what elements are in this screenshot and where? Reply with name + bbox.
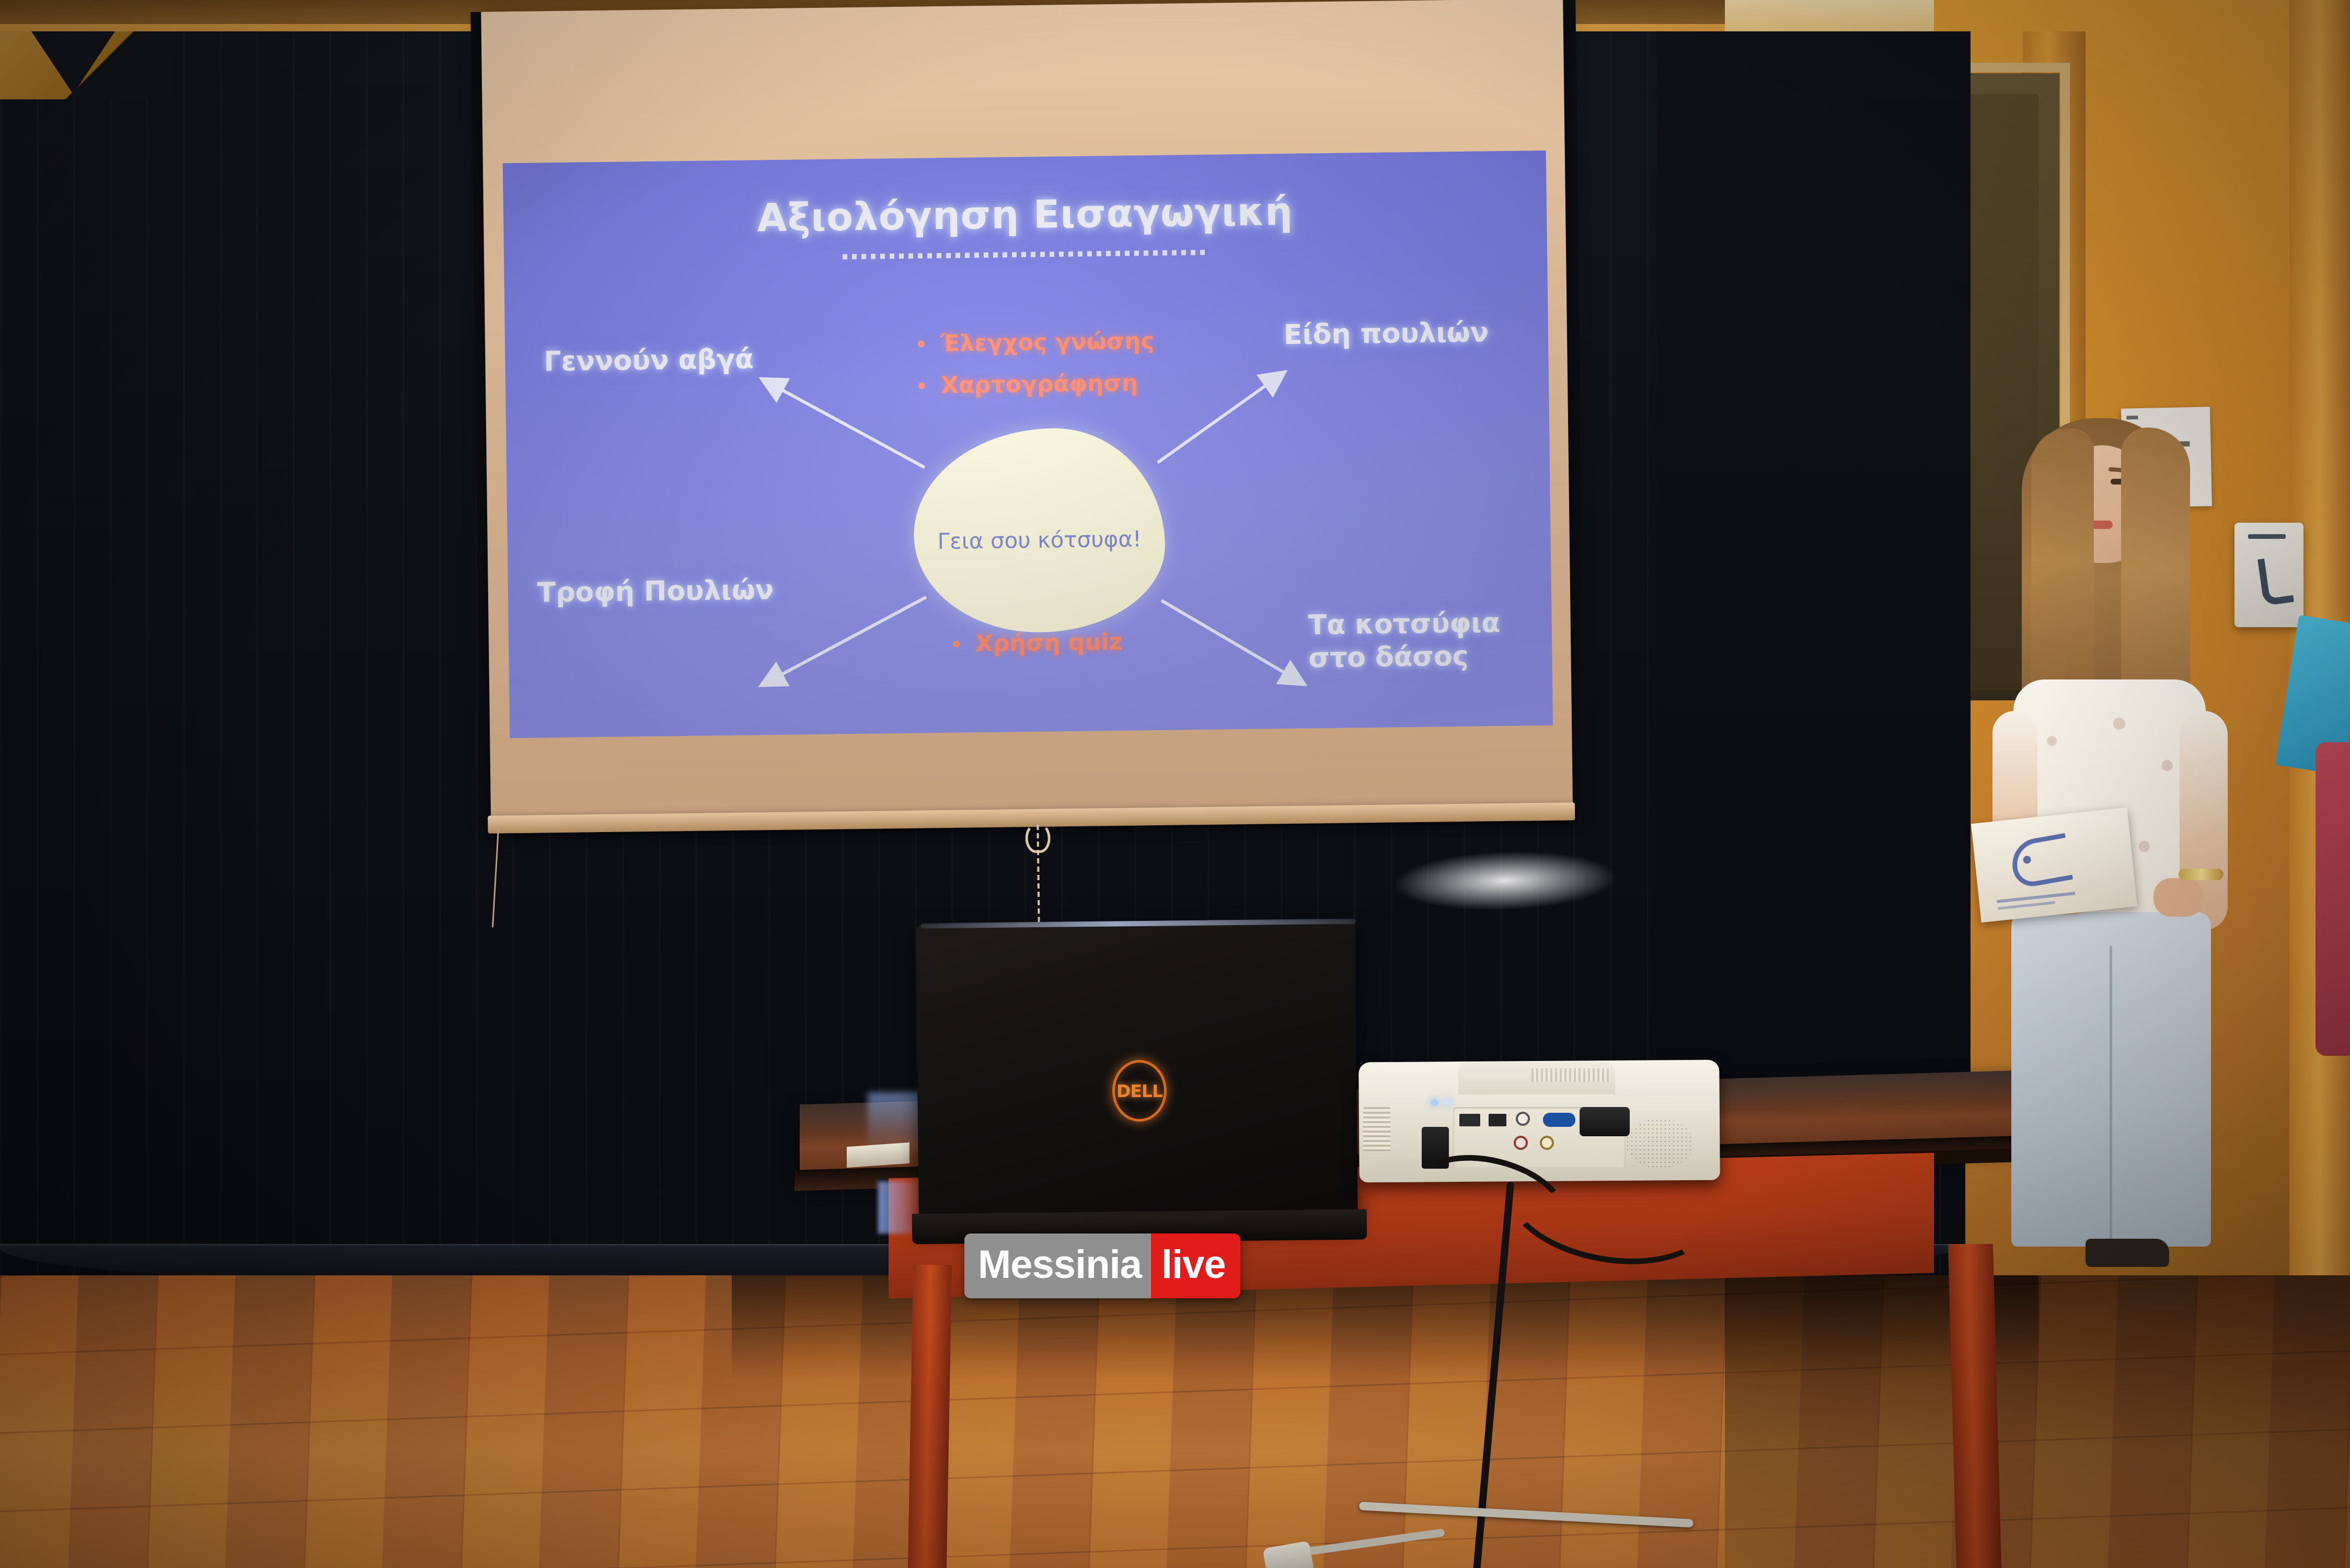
projector-status-led: [1444, 1099, 1451, 1106]
projector-vga-plug[interactable]: [1580, 1107, 1630, 1136]
bullet-label: Χρήση quiz: [975, 629, 1123, 657]
presenter-hand-right: [2153, 878, 2204, 917]
watermark-logo: Messinia live: [964, 1233, 1240, 1298]
slide-node-food: Τροφή Πουλιών: [537, 574, 774, 610]
folder-text-line-2: [1998, 901, 2055, 909]
dispenser-hand-icon: [2257, 555, 2294, 606]
projection-screen: Αξιολόγηση Εισαγωγική Γεννούν αβγά Τροφή…: [455, 0, 1605, 854]
presenter: [1981, 418, 2242, 1307]
slide-bullet-quiz-use: Χρήση quiz: [953, 629, 1123, 658]
dell-logo-icon: DELL: [1112, 1060, 1167, 1122]
projector-rca-audio-right-port[interactable]: [1540, 1136, 1554, 1150]
presenter-folder: [1971, 808, 2137, 923]
slide-center-blob-text: Γεια σου κότσυφα!: [937, 526, 1142, 554]
bullet-dot-icon: [918, 382, 925, 389]
bullet-dot-icon: [953, 641, 960, 648]
projector-vga-port[interactable]: [1543, 1113, 1575, 1127]
presenter-trouser-seam: [2110, 946, 2112, 1244]
slide-node-kinds: Είδη πουλιών: [1284, 316, 1489, 352]
projected-slide: Αξιολόγηση Εισαγωγική Γεννούν αβγά Τροφή…: [503, 151, 1553, 738]
presenter-shoe: [2086, 1239, 2169, 1267]
projector-usb-port-b[interactable]: [1489, 1114, 1506, 1126]
projector-side-vent: [1363, 1107, 1390, 1152]
projector-power-led: [1431, 1099, 1438, 1106]
bullet-label: Έλεγχος γνώσης: [940, 328, 1155, 357]
slide-bullet-knowledge-check: Έλεγχος γνώσης: [918, 328, 1155, 358]
screenshot-root: Αξιολόγηση Εισαγωγική Γεννούν αβγά Τροφή…: [0, 0, 2350, 1568]
second-person-partial: [2316, 742, 2350, 1056]
slide-bullet-mapping: Χαρτογράφηση: [918, 370, 1138, 399]
projector-usb-port[interactable]: [1459, 1114, 1480, 1126]
bullet-label: Χαρτογράφηση: [941, 370, 1138, 399]
sanitiser-dispenser[interactable]: [2234, 523, 2303, 627]
projector-rca-video-port[interactable]: [1516, 1112, 1530, 1126]
projector-top-vent: [1531, 1068, 1610, 1082]
folder-logo-icon: [2008, 833, 2073, 890]
slide-node-forest: Τα κοτσύφια στο δάσος: [1308, 607, 1501, 675]
projector-rca-audio-left-port[interactable]: [1514, 1136, 1528, 1150]
dell-logo-text: DELL: [1116, 1081, 1162, 1101]
light-spill-patch: [1395, 848, 1616, 914]
table-leg-left: [908, 1265, 952, 1568]
slide-node-eggs: Γεννούν αβγά: [544, 343, 754, 378]
desk-paper: [847, 1143, 909, 1168]
curtain-right-panel: [1657, 31, 1971, 1150]
dispenser-slot: [2248, 534, 2286, 539]
folder-text-line-1: [1997, 892, 2075, 903]
watermark-brand-text: Messinia: [964, 1233, 1151, 1298]
presenter-bracelet: [2179, 869, 2224, 880]
watermark-live-badge: live: [1151, 1233, 1240, 1298]
bullet-dot-icon: [918, 340, 925, 347]
presenter-hair-left: [2031, 429, 2094, 721]
